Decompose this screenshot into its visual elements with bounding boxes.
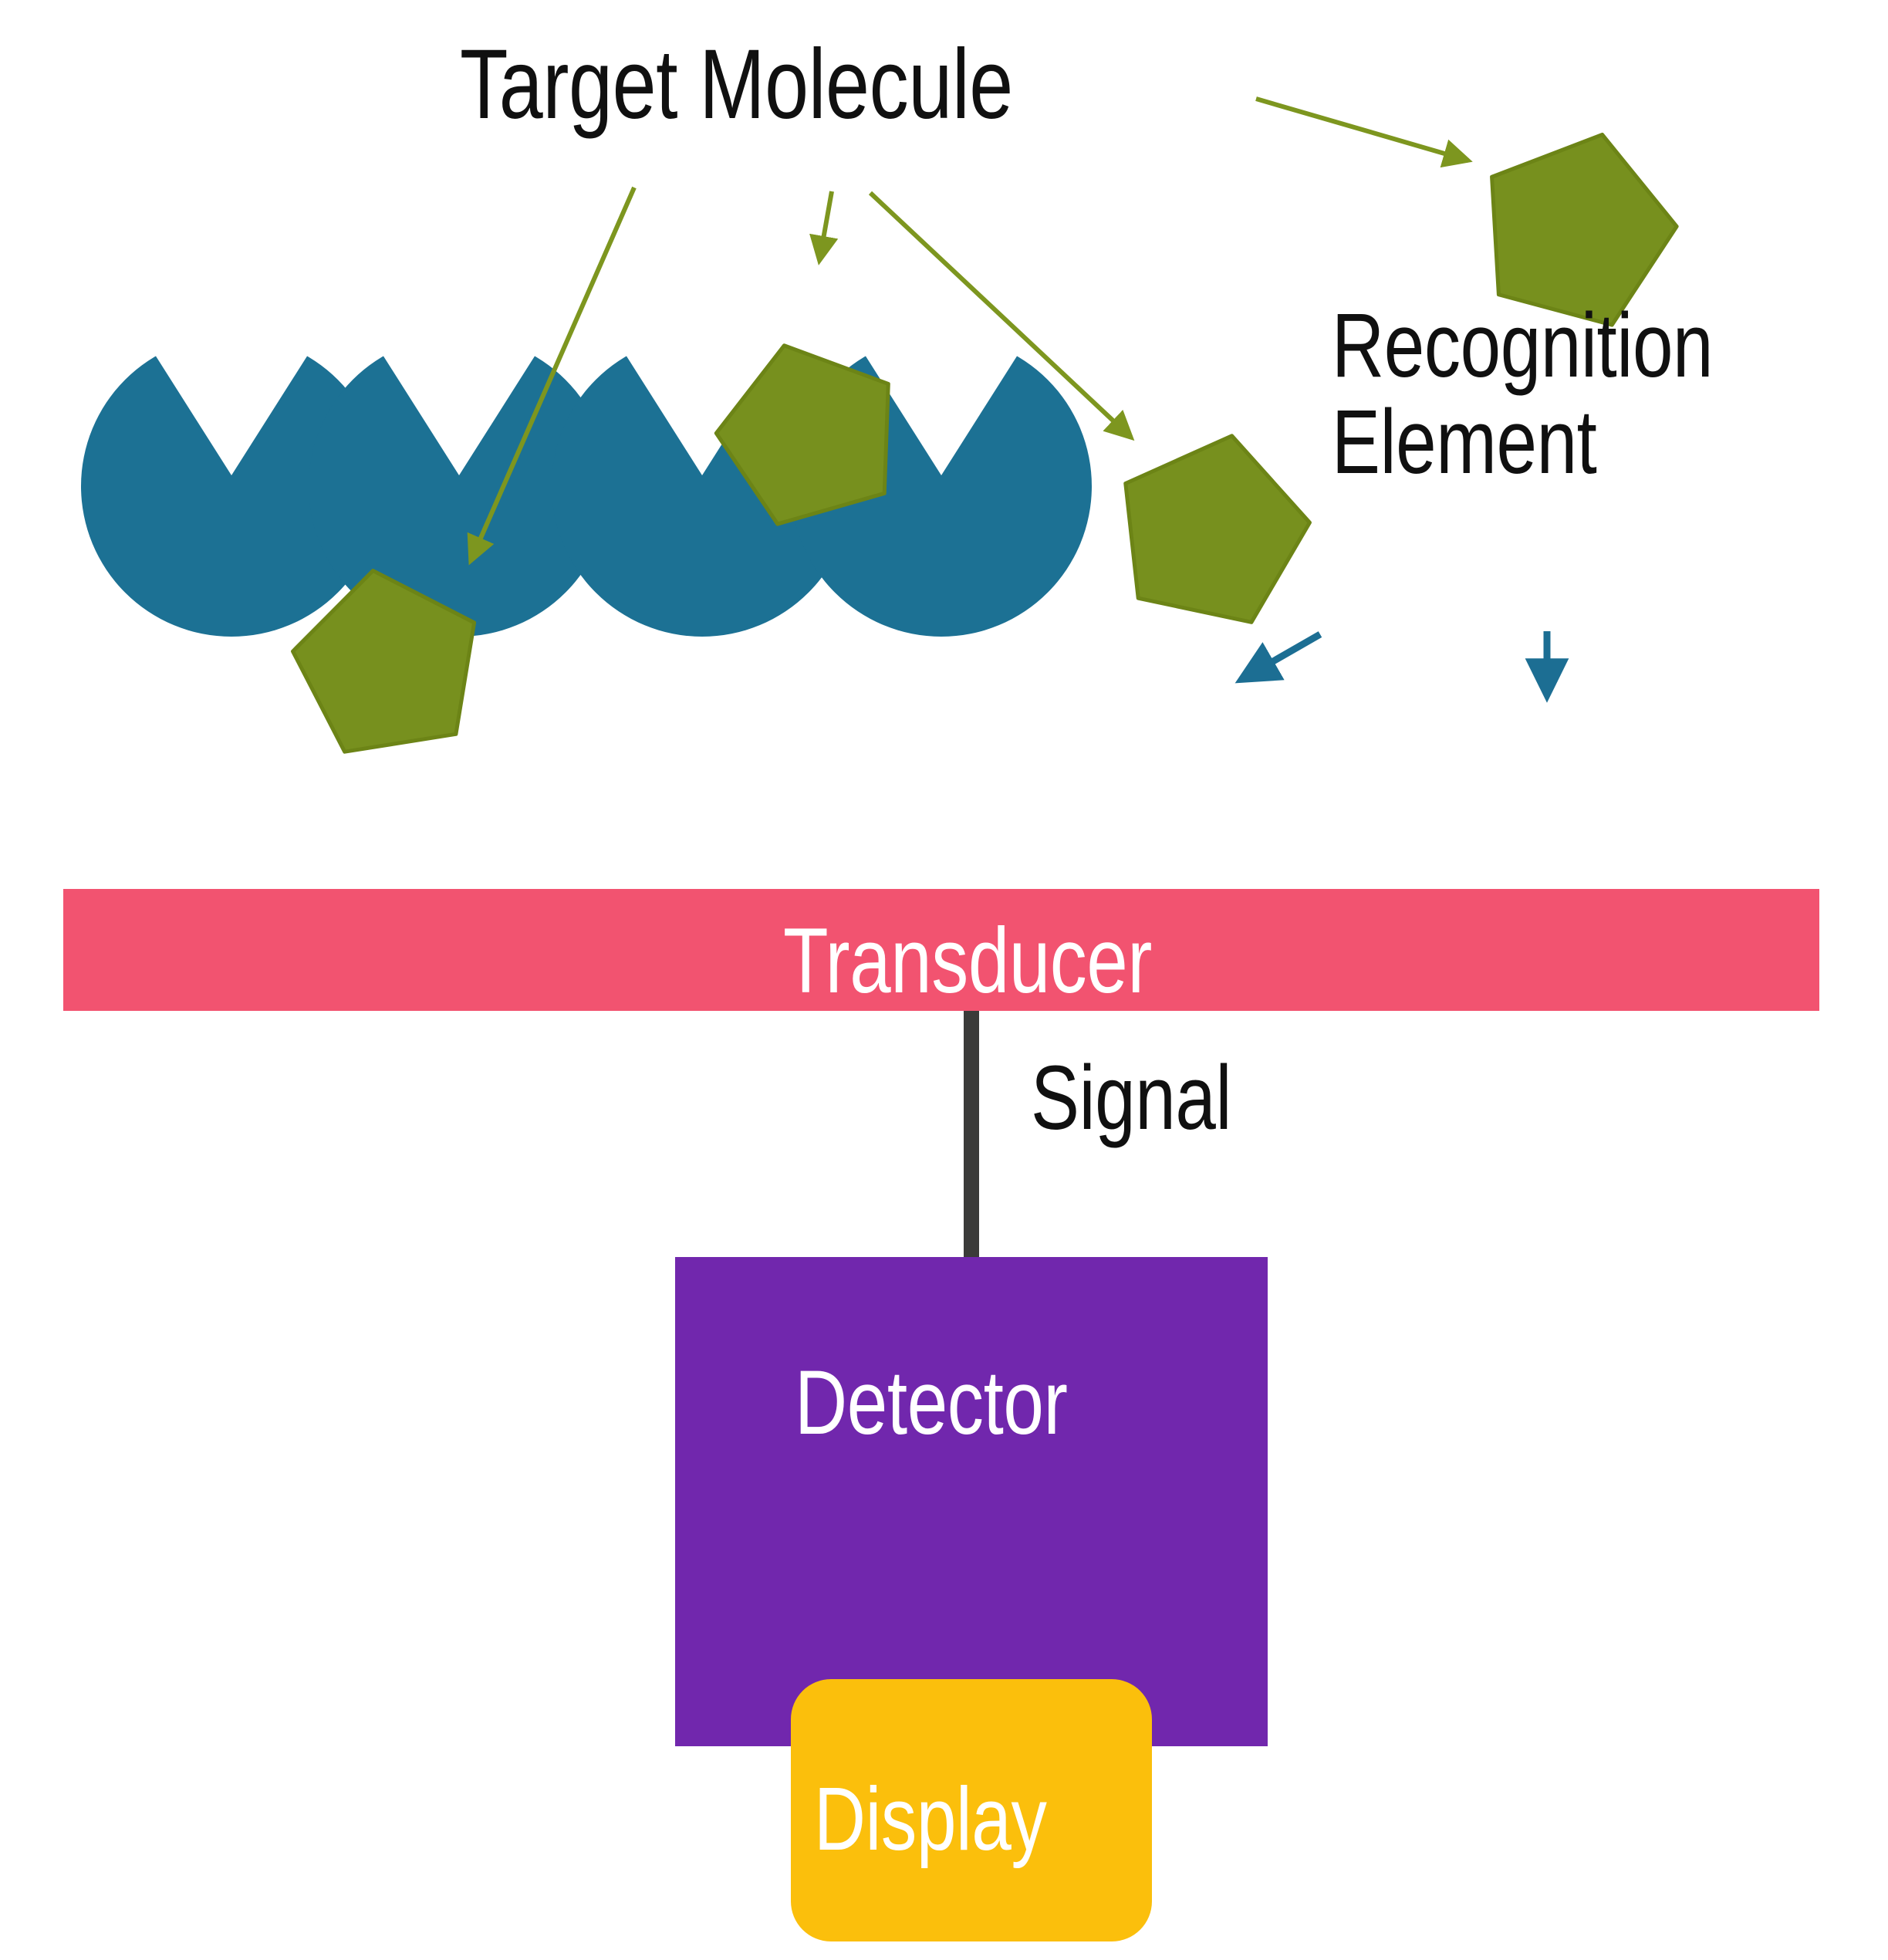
label-display: Display [814,1767,1046,1870]
detector-box[interactable] [675,1257,1268,1746]
label-target-molecule: Target Molecule [460,32,1013,137]
recognition-element-arrows [1242,631,1547,694]
recognition-element-row [81,336,1092,637]
label-signal: Signal [1031,1050,1231,1147]
label-detector: Detector [795,1350,1068,1455]
target-molecule-free-center[interactable] [1103,416,1324,630]
arrow-target-to-free-right [1256,99,1468,161]
biosensor-diagram: Target Molecule RecognitionElement Signa… [0,0,1888,1960]
label-recognition-element-line2: Element [1332,394,1713,491]
label-transducer: Transducer [783,907,1152,1014]
arrow-recognition-to-receptor-3 [1242,634,1320,679]
arrow-target-to-free-left [819,191,832,261]
label-recognition-element-line1: Recognition [1332,295,1713,397]
label-recognition-element: RecognitionElement [1332,298,1713,491]
